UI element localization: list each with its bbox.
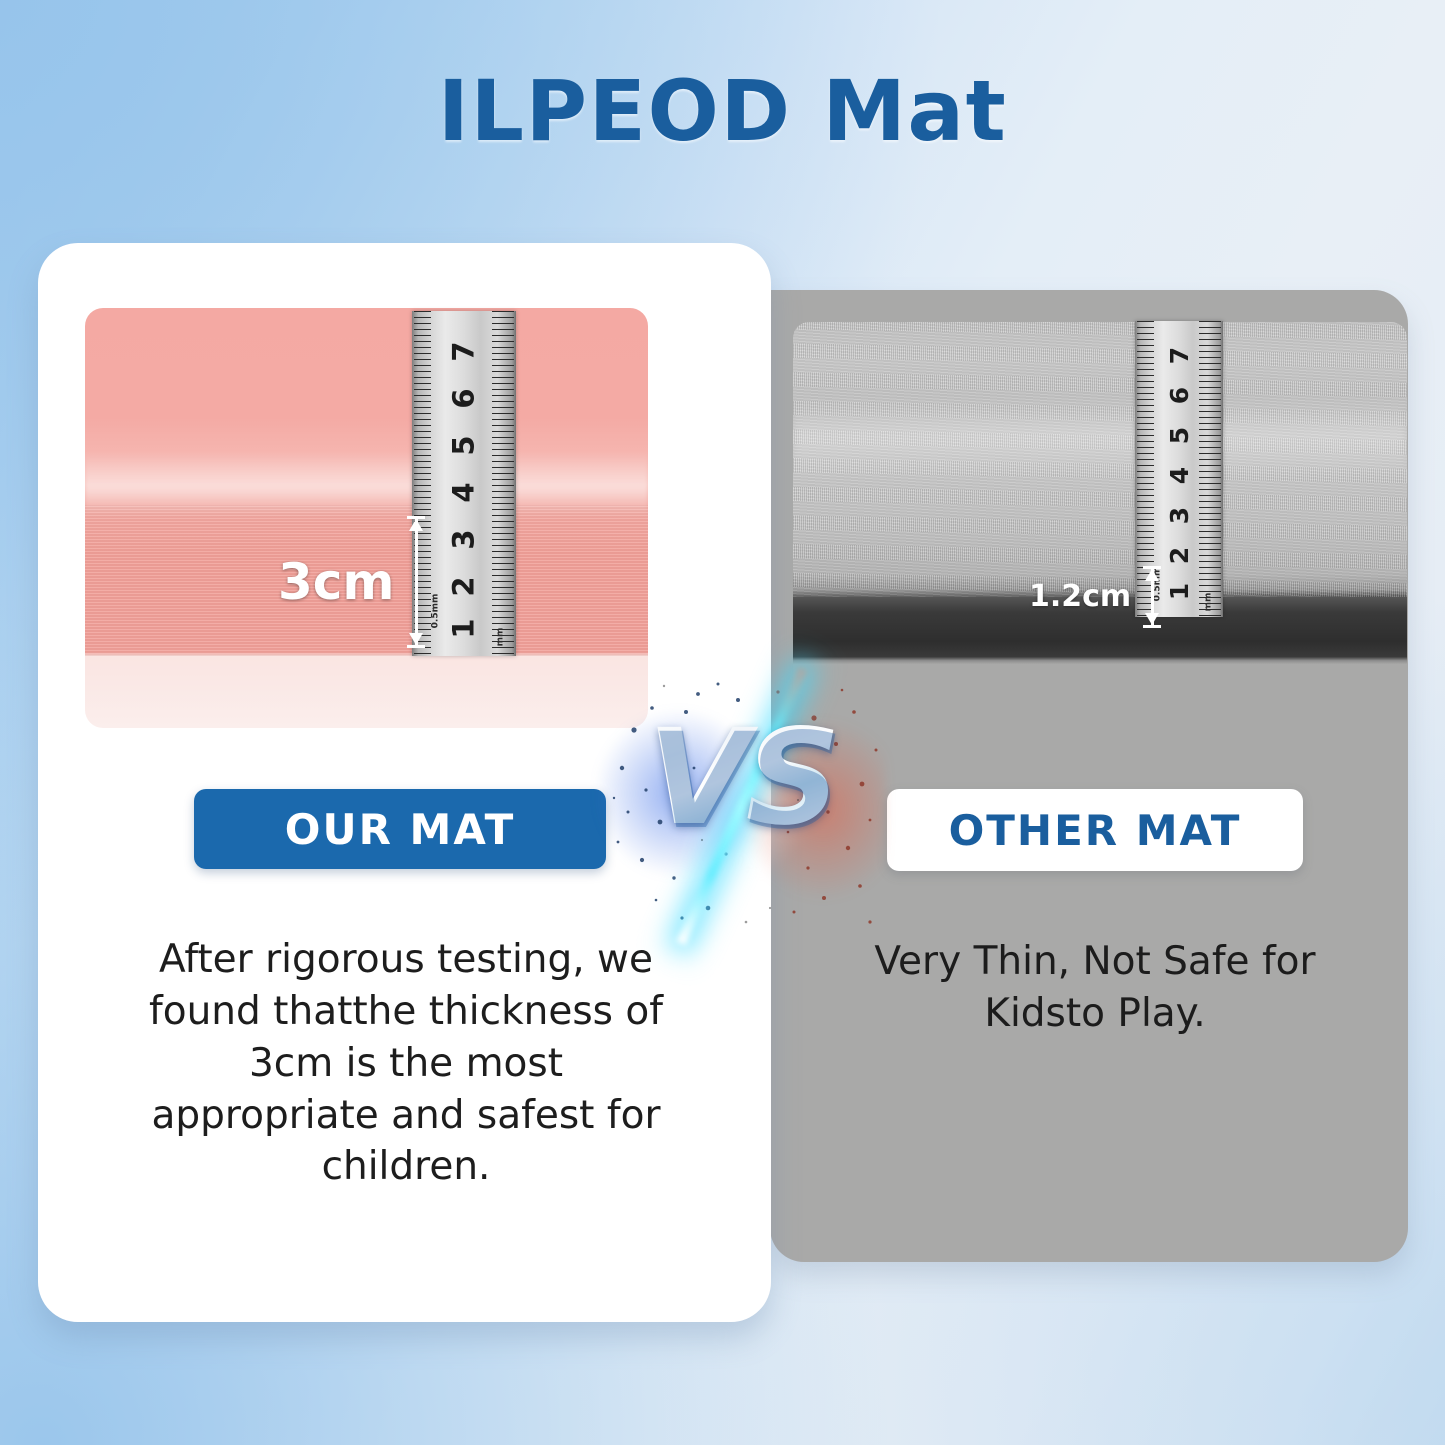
dimension-cap-bottom [407,645,425,648]
ruler-cm-6: 6 [450,388,479,408]
ruler-cm-2: 2 [1167,547,1192,564]
our-mat-thickness-label: 3cm [278,557,395,607]
our-mat-ruler: 7 6 5 4 3 2 1 0.5mm mm [412,311,516,656]
ruler-cm-7: 7 [450,341,479,361]
our-mat-dimension-arrow [405,516,427,648]
our-mat-label-pill: OUR MAT [194,789,606,869]
ruler-unit-mm: mm [496,628,506,647]
dimension-shaft [415,519,418,645]
ruler-cm-4: 4 [1167,467,1192,484]
other-mat-dimension-arrow [1141,566,1163,628]
ruler-unit-mm: mm [1204,593,1214,612]
other-mat-label-pill: OTHER MAT [887,789,1303,871]
ruler-cm-3: 3 [1167,507,1192,524]
ruler-cm-1: 1 [450,618,479,638]
other-mat-photo [793,322,1407,694]
page-title: ILPEOD Mat [0,62,1445,160]
other-mat-measurement: 1.2cm [1029,566,1163,628]
ruler-cm-5: 5 [450,435,479,455]
other-mat-sheen [793,396,1407,478]
arrow-head-down-icon [409,633,423,645]
arrow-head-down-icon [1145,613,1159,625]
ruler-ticks-right [492,311,514,656]
ruler-cm-2: 2 [450,576,479,596]
ruler-ticks-right [1199,321,1221,617]
ruler-cm-5: 5 [1167,427,1192,444]
dimension-cap-bottom [1143,625,1161,628]
our-mat-description: After rigorous testing, we found thatthe… [130,934,682,1193]
ruler-cm-3: 3 [450,529,479,549]
ruler-cm-4: 4 [450,482,479,502]
arrow-head-up-icon [409,519,423,531]
our-mat-measurement: 3cm [278,516,427,648]
infographic-stage: ILPEOD Mat 7 6 5 4 3 2 1 0.5mm mm 3cm [0,0,1445,1445]
ruler-cm-7: 7 [1167,347,1192,364]
ruler-unit-half-mm: 0.5mm [430,594,440,629]
ruler-cm-1: 1 [1167,583,1192,600]
ruler-cm-6: 6 [1167,387,1192,404]
other-mat-description: Very Thin, Not Safe for Kidsto Play. [855,936,1335,1040]
other-mat-thickness-label: 1.2cm [1029,582,1131,612]
arrow-head-up-icon [1145,569,1159,581]
